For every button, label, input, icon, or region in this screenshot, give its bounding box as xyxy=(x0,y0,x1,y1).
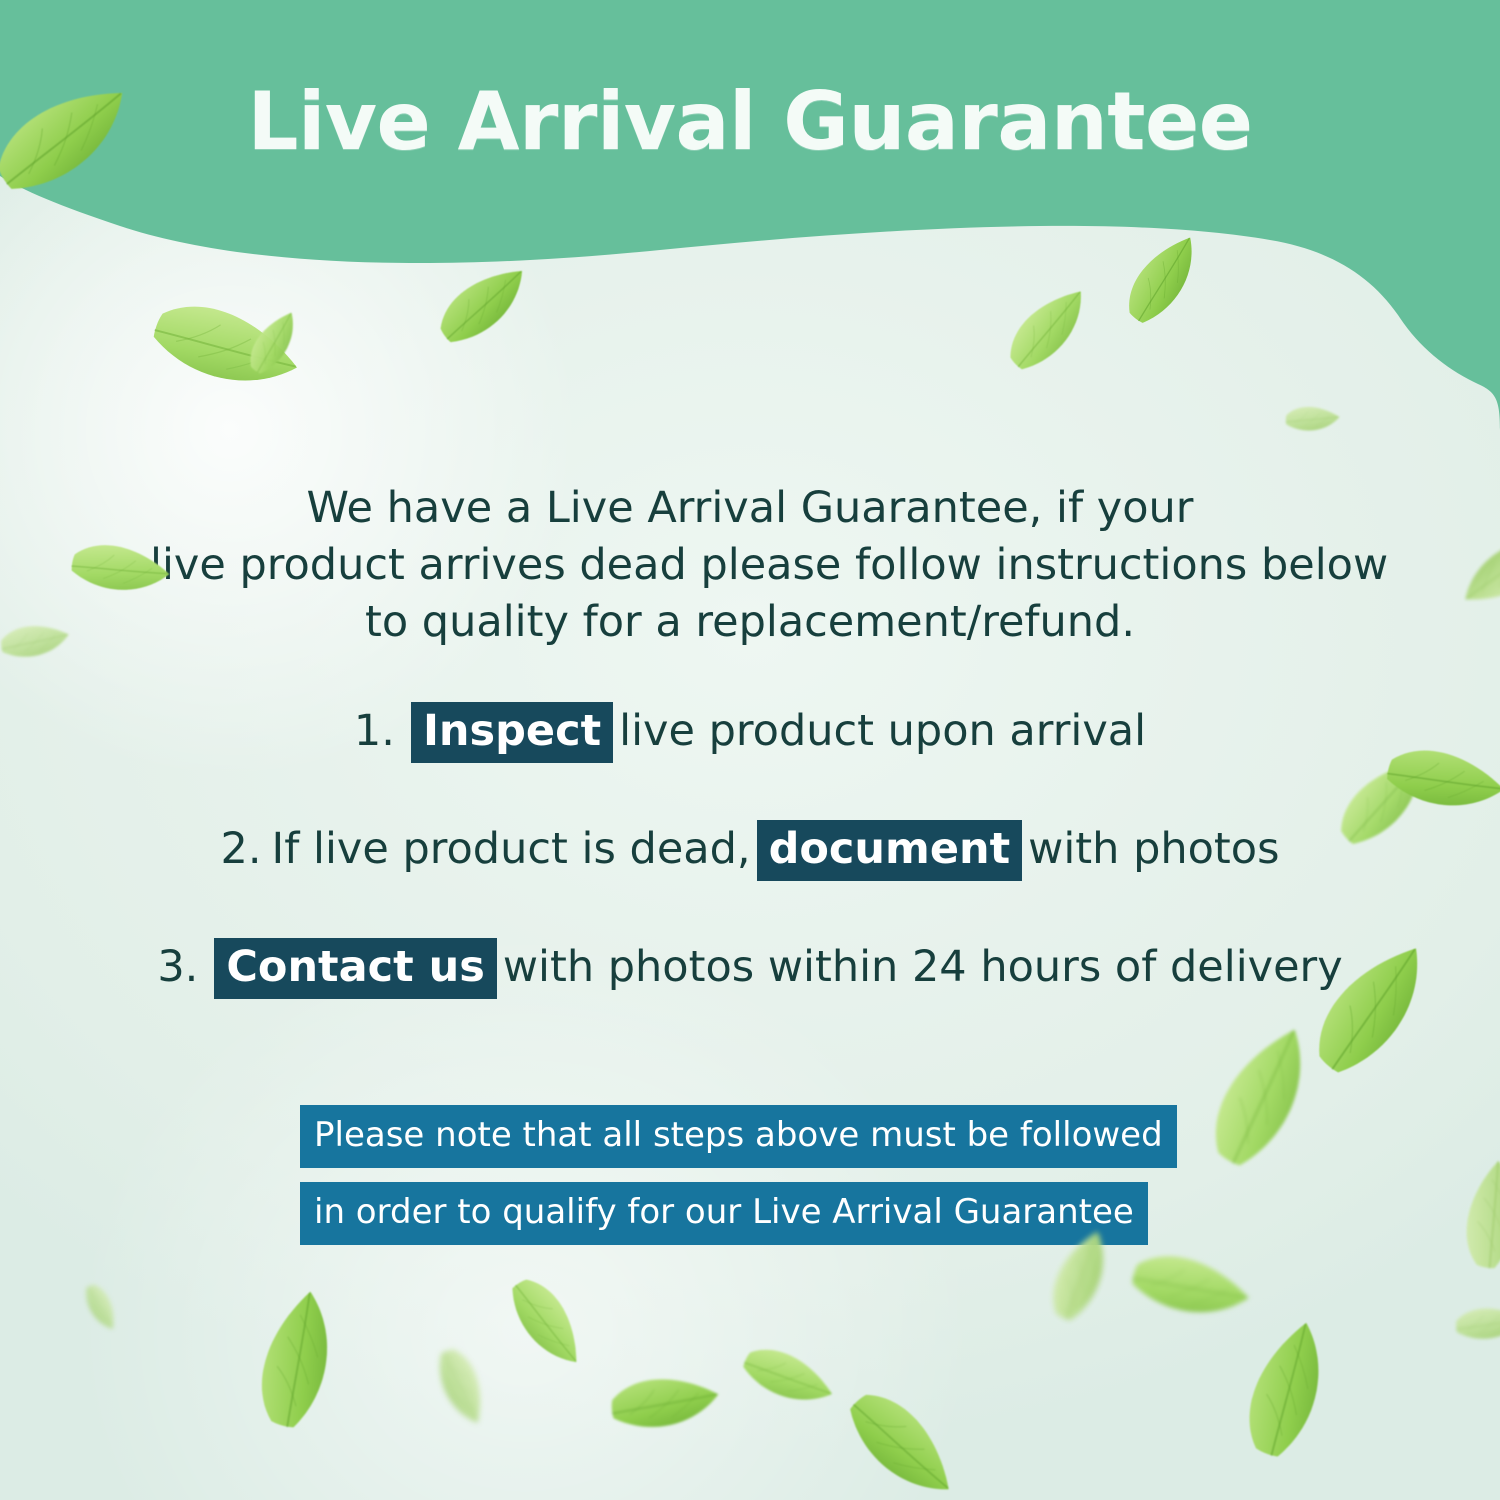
step-item-1: 1.Inspectlive product upon arrival xyxy=(0,700,1500,763)
intro-line-3: to quality for a replacement/refund. xyxy=(150,594,1350,651)
intro-paragraph: We have a Live Arrival Guarantee, if you… xyxy=(150,480,1350,651)
step-highlight-document[interactable]: document xyxy=(757,820,1023,881)
step-highlight-inspect[interactable]: Inspect xyxy=(411,702,613,763)
note-line-1: Please note that all steps above must be… xyxy=(300,1105,1177,1168)
step-text-before-2: If live product is dead, xyxy=(272,824,751,874)
step-number-3: 3. xyxy=(157,942,198,992)
step-item-3: 3.Contact uswith photos within 24 hours … xyxy=(0,936,1500,999)
step-text-after-3: with photos within 24 hours of delivery xyxy=(503,942,1343,992)
step-item-2: 2.If live product is dead,documentwith p… xyxy=(0,818,1500,881)
step-text-after-2: with photos xyxy=(1028,824,1279,874)
intro-line-1: We have a Live Arrival Guarantee, if you… xyxy=(150,480,1350,537)
step-number-1: 1. xyxy=(354,706,395,756)
step-text-after-1: live product upon arrival xyxy=(619,706,1146,756)
steps-list: 1.Inspectlive product upon arrival 2.If … xyxy=(0,700,1500,1054)
step-number-2: 2. xyxy=(220,824,261,874)
note-banner: Please note that all steps above must be… xyxy=(300,1105,1200,1259)
intro-line-2: live product arrives dead please follow … xyxy=(150,537,1350,594)
note-row-2: in order to qualify for our Live Arrival… xyxy=(300,1182,1200,1245)
step-highlight-contact-us[interactable]: Contact us xyxy=(214,938,497,999)
content-area: We have a Live Arrival Guarantee, if you… xyxy=(0,0,1500,1500)
note-line-2: in order to qualify for our Live Arrival… xyxy=(300,1182,1148,1245)
live-arrival-guarantee-poster: Live Arrival Guarantee We have a Live Ar… xyxy=(0,0,1500,1500)
note-row-1: Please note that all steps above must be… xyxy=(300,1105,1200,1168)
